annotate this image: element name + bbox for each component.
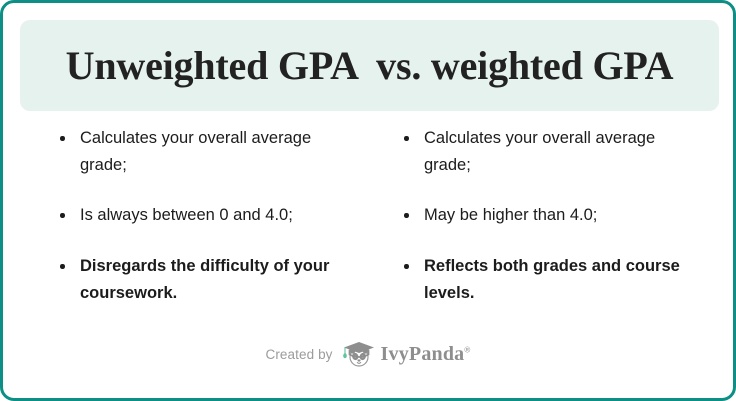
bullet-dot-icon <box>404 264 409 269</box>
list-item: Reflects both grades and course levels. <box>399 253 702 306</box>
bullet-list-unweighted: Calculates your overall average grade; I… <box>55 125 395 307</box>
graduation-panda-logo-icon <box>342 339 376 369</box>
list-item-label: Disregards the difficulty of your course… <box>80 257 329 302</box>
footer-attribution: Created by <box>3 339 733 369</box>
list-item-label: Calculates your overall average grade; <box>80 129 311 174</box>
brand-name-text: IvyPanda <box>381 343 465 365</box>
list-item-label: Is always between 0 and 4.0; <box>80 206 293 224</box>
brand-lockup: IvyPanda® <box>342 339 471 369</box>
title-band: Unweighted GPA vs. weighted GPA <box>20 20 719 111</box>
brand-wordmark: IvyPanda® <box>381 343 471 366</box>
bullet-dot-icon <box>404 213 409 218</box>
list-item-label: May be higher than 4.0; <box>424 206 597 224</box>
registered-trademark-icon: ® <box>464 345 470 354</box>
comparison-columns: Calculates your overall average grade; I… <box>3 125 736 307</box>
gpa-comparison-card: Unweighted GPA vs. weighted GPA Calculat… <box>0 0 736 401</box>
list-item: Calculates your overall average grade; <box>399 125 702 178</box>
list-item-label: Calculates your overall average grade; <box>424 129 655 174</box>
column-unweighted: Calculates your overall average grade; I… <box>55 125 395 307</box>
bullet-dot-icon <box>60 136 65 141</box>
list-item-label: Reflects both grades and course levels. <box>424 257 680 302</box>
bullet-dot-icon <box>60 213 65 218</box>
page-title: Unweighted GPA vs. weighted GPA <box>66 45 674 87</box>
bullet-dot-icon <box>404 136 409 141</box>
list-item: Is always between 0 and 4.0; <box>55 202 358 229</box>
bullet-list-weighted: Calculates your overall average grade; M… <box>399 125 736 307</box>
list-item: May be higher than 4.0; <box>399 202 702 229</box>
column-weighted: Calculates your overall average grade; M… <box>399 125 736 307</box>
bullet-dot-icon <box>60 264 65 269</box>
created-by-label: Created by <box>265 347 332 362</box>
list-item: Calculates your overall average grade; <box>55 125 358 178</box>
list-item: Disregards the difficulty of your course… <box>55 253 358 306</box>
